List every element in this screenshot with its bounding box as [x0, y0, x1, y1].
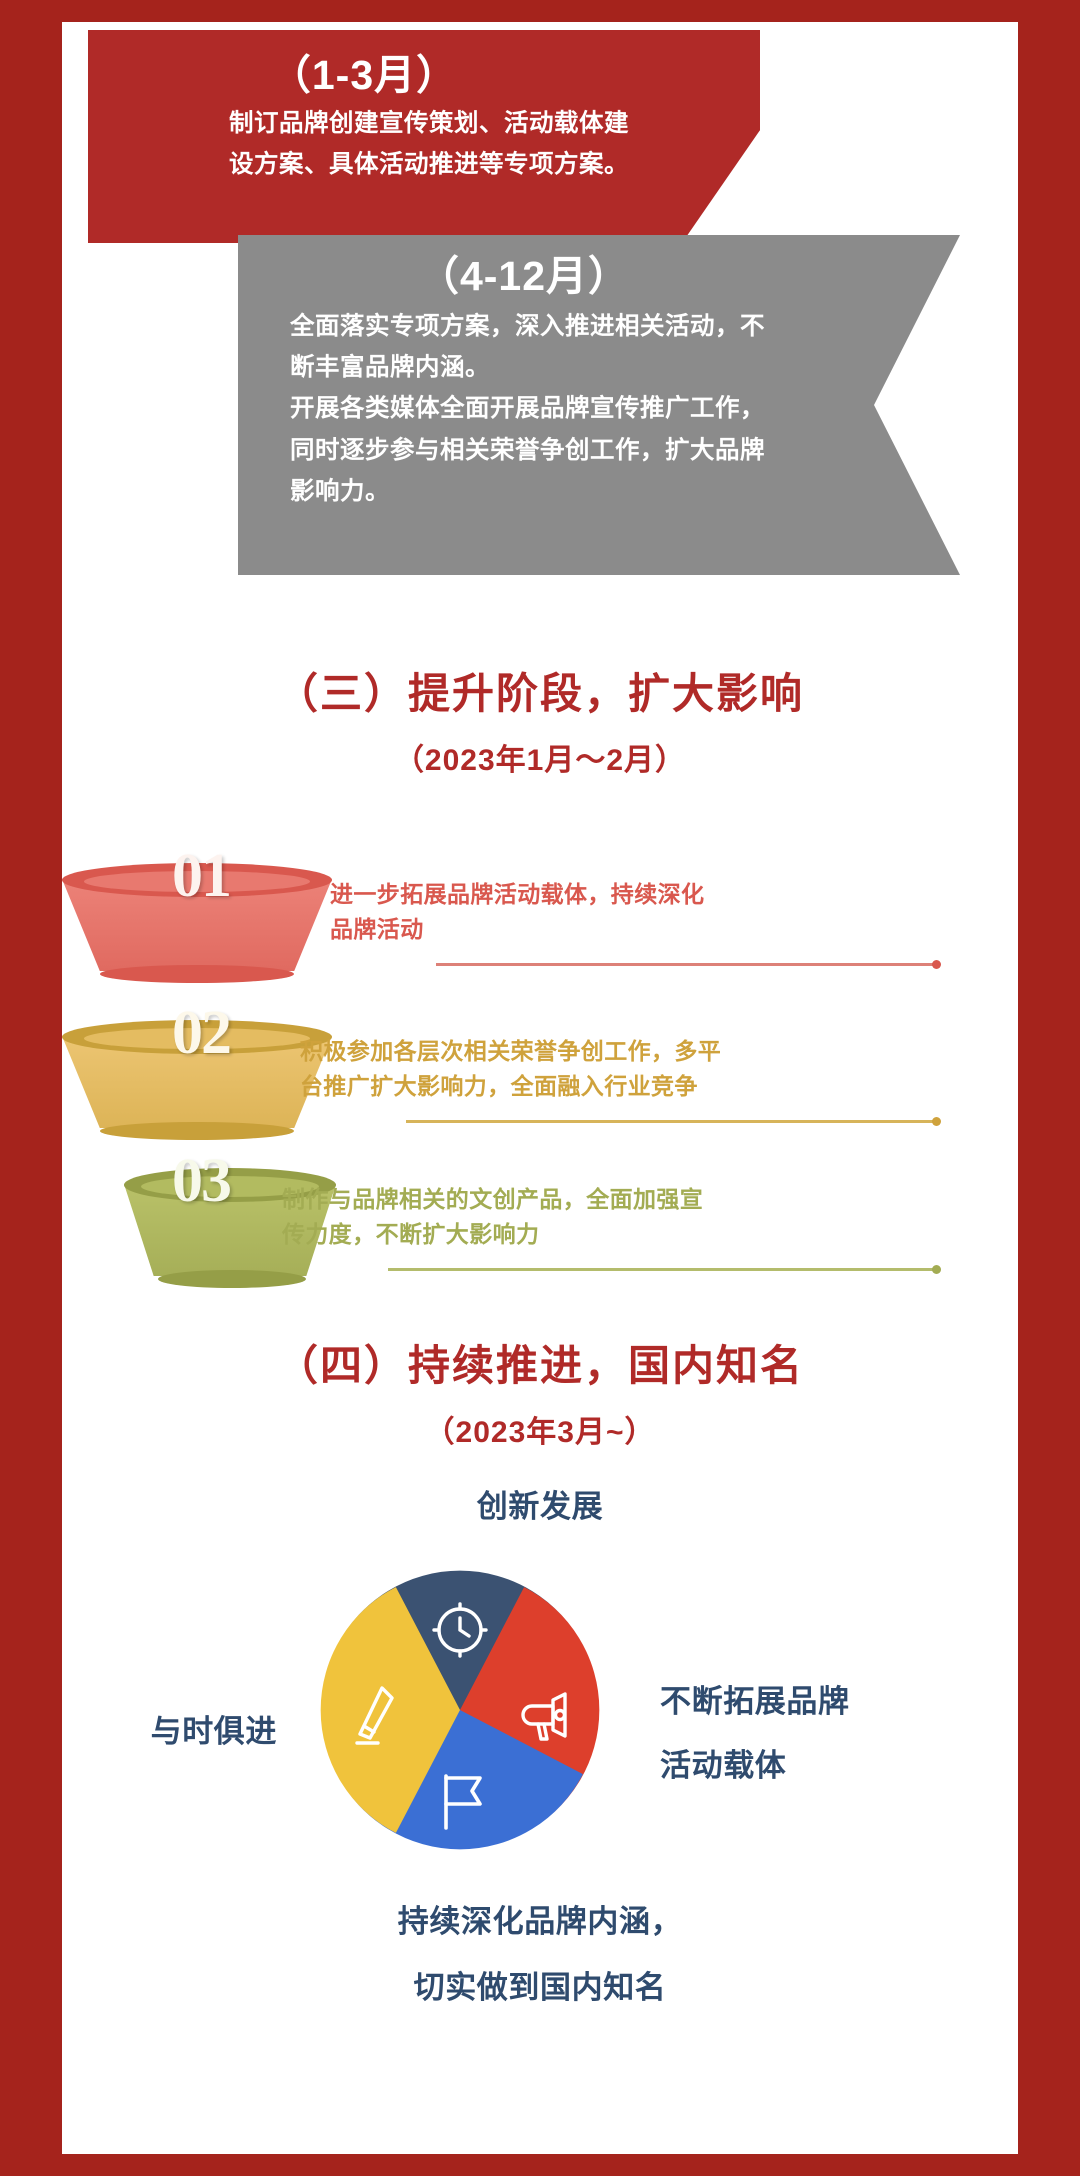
banner-phase-jan-mar: （1-3月） 制订品牌创建宣传策划、活动载体建 设方案、具体活动推进等专项方案。	[88, 30, 760, 243]
stage-text-line: 积极参加各层次相关荣誉争创工作，多平	[300, 1034, 960, 1069]
wheel-svg	[310, 1560, 610, 1860]
stage-item-03: 03 制作与品牌相关的文创产品，全面加强宣 传力度，不断扩大影响力	[0, 1160, 1080, 1310]
bowl-graphic-01: 01	[52, 855, 342, 975]
bowl-foot	[158, 1270, 306, 1288]
wheel-label-top: 创新发展	[62, 1485, 1018, 1529]
section-four-heading: （四）持续推进，国内知名	[62, 1340, 1018, 1393]
frame-rail-bottom	[0, 2154, 1080, 2176]
banner-title-apr-dec: （4-12月）	[238, 235, 960, 304]
stage-text-03: 制作与品牌相关的文创产品，全面加强宣 传力度，不断扩大影响力	[282, 1182, 962, 1251]
banner-line: 影响力。	[290, 471, 864, 512]
section-four-heading-group: （四）持续推进，国内知名 （2023年3月~）	[62, 1340, 1018, 1451]
section-four-subheading: （2023年3月~）	[62, 1407, 1018, 1451]
stage-text-line: 传力度，不断扩大影响力	[282, 1217, 962, 1252]
banner-title-jan-mar: （1-3月）	[88, 30, 760, 101]
bowl-number-01: 01	[172, 841, 230, 912]
stage-rule-dot-03	[932, 1265, 941, 1274]
stage-item-02: 02 积极参加各层次相关荣誉争创工作，多平 台推广扩大影响力，全面融入行业竞争	[0, 1012, 1080, 1162]
banner-phase-apr-dec: （4-12月） 全面落实专项方案，深入推进相关活动，不 断丰富品牌内涵。 开展各…	[238, 235, 960, 575]
section-three-heading-group: （三）提升阶段，扩大影响 （2023年1月～2月）	[62, 668, 1018, 779]
four-segment-wheel	[310, 1560, 610, 1860]
frame-rail-top	[0, 0, 1080, 22]
bowl-foot	[100, 1122, 294, 1140]
stage-text-02: 积极参加各层次相关荣誉争创工作，多平 台推广扩大影响力，全面融入行业竞争	[300, 1034, 960, 1103]
bowl-foot	[100, 965, 294, 983]
wheel-label-right-line2: 活动载体	[660, 1744, 980, 1788]
banner-line: 全面落实专项方案，深入推进相关活动，不	[290, 306, 864, 347]
stage-text-line: 制作与品牌相关的文创产品，全面加强宣	[282, 1182, 962, 1217]
wheel-label-left: 与时俱进	[62, 1710, 277, 1754]
infographic-page: （1-3月） 制订品牌创建宣传策划、活动载体建 设方案、具体活动推进等专项方案。…	[0, 0, 1080, 2176]
stage-item-01: 01 进一步拓展品牌活动载体，持续深化 品牌活动	[0, 855, 1080, 1005]
banner-line: 设方案、具体活动推进等专项方案。	[166, 144, 692, 185]
wheel-label-right-line1: 不断拓展品牌	[660, 1684, 850, 1719]
stage-text-line: 台推广扩大影响力，全面融入行业竞争	[300, 1069, 960, 1104]
bowl-number-02: 02	[172, 998, 230, 1069]
stage-rule-dot-01	[932, 960, 941, 969]
wheel-label-bottom-line1: 持续深化品牌内涵，	[398, 1904, 682, 1939]
wheel-label-bottom-line2: 切实做到国内知名	[62, 1966, 1018, 2010]
banner-line: 开展各类媒体全面开展品牌宣传推广工作，	[290, 388, 864, 429]
section-three-subheading: （2023年1月～2月）	[62, 735, 1018, 779]
bowl-number-03: 03	[172, 1146, 230, 1217]
stage-text-01: 进一步拓展品牌活动载体，持续深化 品牌活动	[330, 877, 960, 946]
stage-rule-01	[436, 963, 936, 966]
stage-rule-02	[406, 1120, 936, 1123]
banner-line: 制订品牌创建宣传策划、活动载体建	[166, 103, 692, 144]
wheel-label-bottom: 持续深化品牌内涵， 切实做到国内知名	[62, 1900, 1018, 2010]
banner-body-apr-dec: 全面落实专项方案，深入推进相关活动，不 断丰富品牌内涵。 开展各类媒体全面开展品…	[238, 304, 960, 512]
wheel-label-right: 不断拓展品牌 活动载体	[660, 1680, 980, 1788]
stage-text-line: 品牌活动	[330, 912, 960, 947]
banner-body-jan-mar: 制订品牌创建宣传策划、活动载体建 设方案、具体活动推进等专项方案。	[88, 101, 760, 185]
section-three-heading: （三）提升阶段，扩大影响	[62, 668, 1018, 721]
banner-line: 同时逐步参与相关荣誉争创工作，扩大品牌	[290, 430, 864, 471]
stage-text-line: 进一步拓展品牌活动载体，持续深化	[330, 877, 960, 912]
banner-line: 断丰富品牌内涵。	[290, 347, 864, 388]
stage-rule-dot-02	[932, 1117, 941, 1126]
bowl-graphic-02: 02	[52, 1012, 342, 1132]
stage-rule-03	[388, 1268, 936, 1271]
